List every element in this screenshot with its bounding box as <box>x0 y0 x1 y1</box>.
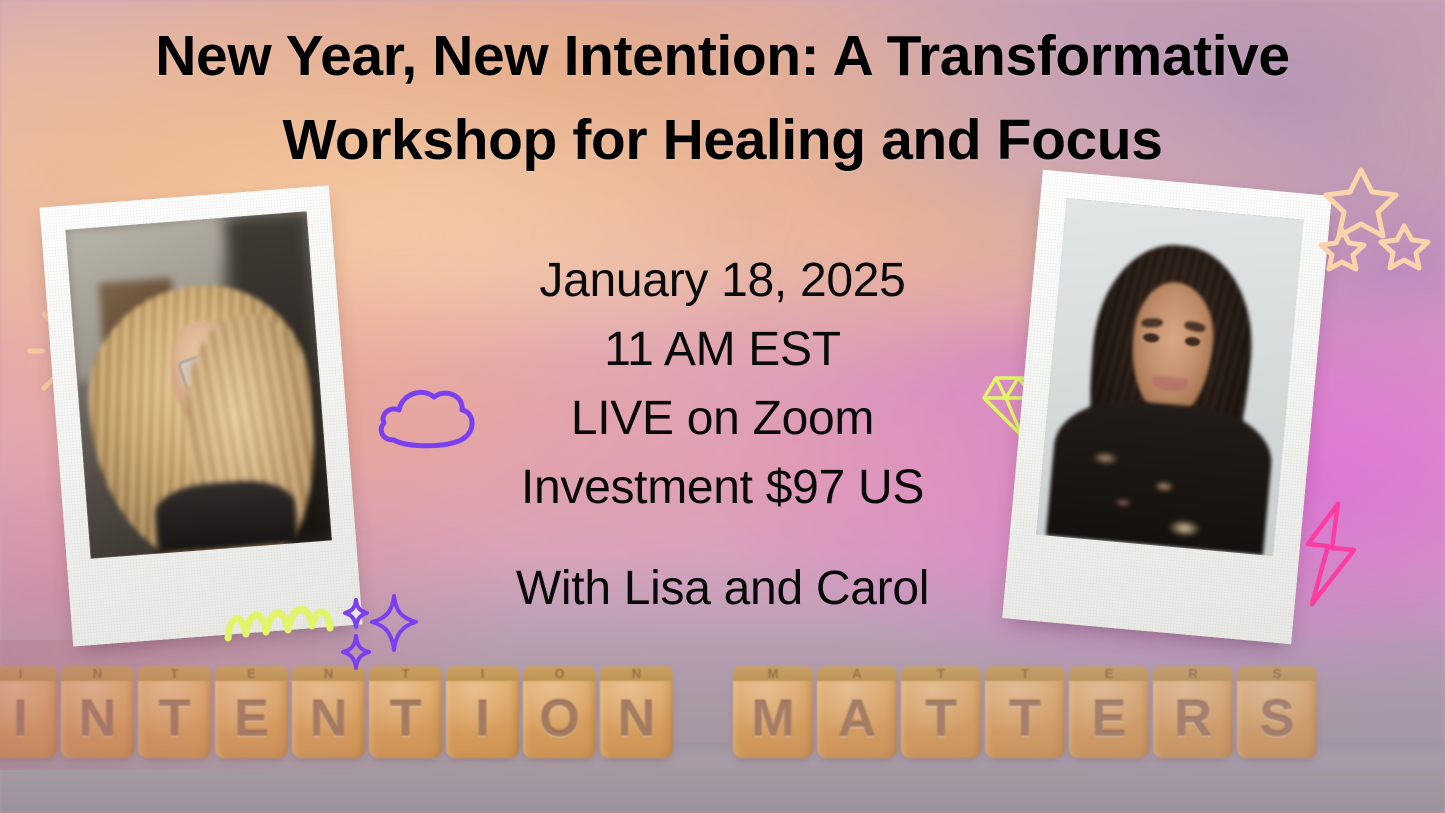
block-letter: S <box>1237 666 1317 758</box>
block-letter: N <box>600 666 673 758</box>
headline-line-2: Workshop for Healing and Focus <box>40 98 1405 182</box>
letter-block-t-l2: TT <box>138 666 211 758</box>
letter-block-n-l1: NN <box>61 666 134 758</box>
block-letter: T <box>901 666 981 758</box>
letter-block-a-r1: AA <box>817 666 897 758</box>
block-letter: M <box>733 666 813 758</box>
letter-block-s-r6: SS <box>1237 666 1317 758</box>
photo-window-right <box>1036 198 1304 556</box>
letter-block-m-r0: MM <box>733 666 813 758</box>
letter-blocks-row: IINNTTEENNTTIIOONNMMAATTTTEERRSS <box>0 648 1445 758</box>
block-letter: O <box>523 666 596 758</box>
word-gap <box>677 757 733 758</box>
block-letter: E <box>215 666 288 758</box>
letter-block-i-l0: II <box>0 666 57 758</box>
page-title: New Year, New Intention: A Transformativ… <box>0 14 1445 183</box>
portrait-dark-haired-woman <box>1036 198 1304 556</box>
headline-line-1: New Year, New Intention: A Transformativ… <box>40 14 1405 98</box>
block-letter: E <box>1069 666 1149 758</box>
star-icon <box>1318 164 1438 272</box>
promo-poster: IINNTTEENNTTIIOONNMMAATTTTEERRSS <box>0 0 1445 813</box>
letter-block-e-l3: EE <box>215 666 288 758</box>
letter-block-r-r5: RR <box>1153 666 1233 758</box>
block-letter: T <box>369 666 442 758</box>
block-letter: T <box>138 666 211 758</box>
letter-block-t-r3: TT <box>985 666 1065 758</box>
block-letter: I <box>446 666 519 758</box>
block-letter: N <box>61 666 134 758</box>
block-letter: T <box>985 666 1065 758</box>
letter-block-t-l5: TT <box>369 666 442 758</box>
letter-block-n-l8: NN <box>600 666 673 758</box>
letter-block-i-l6: II <box>446 666 519 758</box>
lightning-icon <box>1298 500 1364 608</box>
block-letter: A <box>817 666 897 758</box>
letter-block-e-r4: EE <box>1069 666 1149 758</box>
block-letter: R <box>1153 666 1233 758</box>
letter-block-n-l4: NN <box>292 666 365 758</box>
block-letter: N <box>292 666 365 758</box>
letter-block-t-r2: TT <box>901 666 981 758</box>
letter-block-o-l7: OO <box>523 666 596 758</box>
polaroid-photo-right <box>1002 170 1332 644</box>
block-letter: I <box>0 666 57 758</box>
